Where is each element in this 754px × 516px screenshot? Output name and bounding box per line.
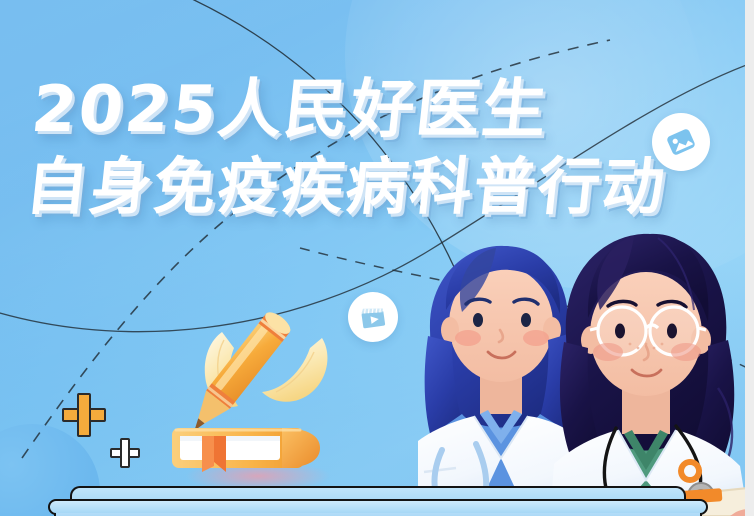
doctor-right [550,234,745,516]
pencil [182,308,294,439]
title-line-2: 自身免疫疾病科普行动 [23,155,720,218]
bottom-desk-panel [48,486,708,516]
right-edge-strip [745,0,754,516]
photo-badge[interactable] [652,113,710,171]
poster-root: 2025人民好医生 自身免疫疾病科普行动 [0,0,754,516]
clapperboard-icon [358,302,388,332]
plus-icon-small [110,438,140,468]
doctors-illustration [418,218,745,516]
winged-pencil-and-book-illustration [150,300,350,500]
plus-bar-vertical [120,438,130,468]
poster-title: 2025人民好医生 自身免疫疾病科普行动 [26,78,716,219]
plus-bar-vertical [77,393,91,437]
image-icon [664,125,698,159]
book [172,428,320,472]
plus-icon-large [62,393,106,437]
poster-canvas: 2025人民好医生 自身免疫疾病科普行动 [0,0,745,516]
title-line-1: 2025人民好医生 [29,78,720,143]
video-badge[interactable] [348,292,398,342]
